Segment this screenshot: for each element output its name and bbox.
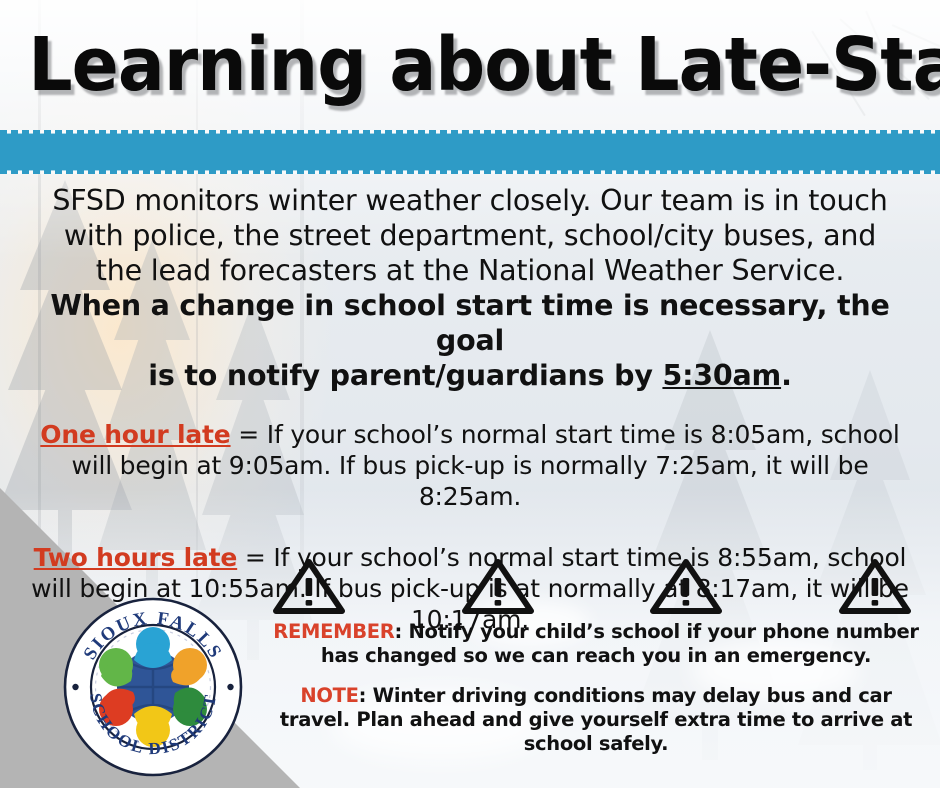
- two-hours-late-tag: Two hours late: [34, 543, 238, 572]
- intro-line-3: the lead forecasters at the National Wea…: [96, 254, 845, 287]
- poster-header: Learning about Late-Starts: [0, 0, 940, 130]
- intro-bold-line-2-prefix: is to notify parent/guardians by: [148, 359, 662, 392]
- page-title: Learning about Late-Starts: [28, 22, 912, 108]
- note-body: : Winter driving conditions may delay bu…: [280, 684, 912, 755]
- bottom-notes: REMEMBER: Notify your child’s school if …: [272, 620, 920, 756]
- driving-note: NOTE: Winter driving conditions may dela…: [272, 684, 920, 756]
- intro-bold-line-2-suffix: .: [781, 359, 792, 392]
- intro-line-1: SFSD monitors winter weather closely. Ou…: [52, 184, 887, 217]
- warning-triangle-icon: [461, 558, 535, 616]
- poster-canvas: Learning about Late-Starts SFSD monitors…: [0, 0, 940, 788]
- sioux-falls-school-district-logo: SIOUX FALLS SCHOOL DISTRICT: [62, 596, 244, 778]
- warning-triangle-icon: [838, 558, 912, 616]
- note-label: NOTE: [300, 684, 358, 707]
- blue-divider-bar: [0, 133, 940, 171]
- one-hour-late-paragraph: One hour late = If your school’s normal …: [30, 419, 910, 512]
- remember-body: : Notify your child’s school if your pho…: [321, 620, 919, 667]
- intro-paragraph: SFSD monitors winter weather closely. Ou…: [35, 171, 905, 393]
- one-hour-late-tag: One hour late: [40, 420, 230, 449]
- intro-line-2: with police, the street department, scho…: [64, 219, 876, 252]
- notify-time-underlined: 5:30am: [662, 359, 781, 392]
- remember-label: REMEMBER: [273, 620, 394, 643]
- remember-note: REMEMBER: Notify your child’s school if …: [272, 620, 920, 668]
- logo-seal-graphic: SIOUX FALLS SCHOOL DISTRICT: [62, 596, 244, 778]
- warning-triangle-icon: [649, 558, 723, 616]
- intro-bold-line-1: When a change in school start time is ne…: [50, 289, 889, 357]
- warning-triangle-icon: [272, 558, 346, 616]
- warning-icon-row: [272, 558, 912, 616]
